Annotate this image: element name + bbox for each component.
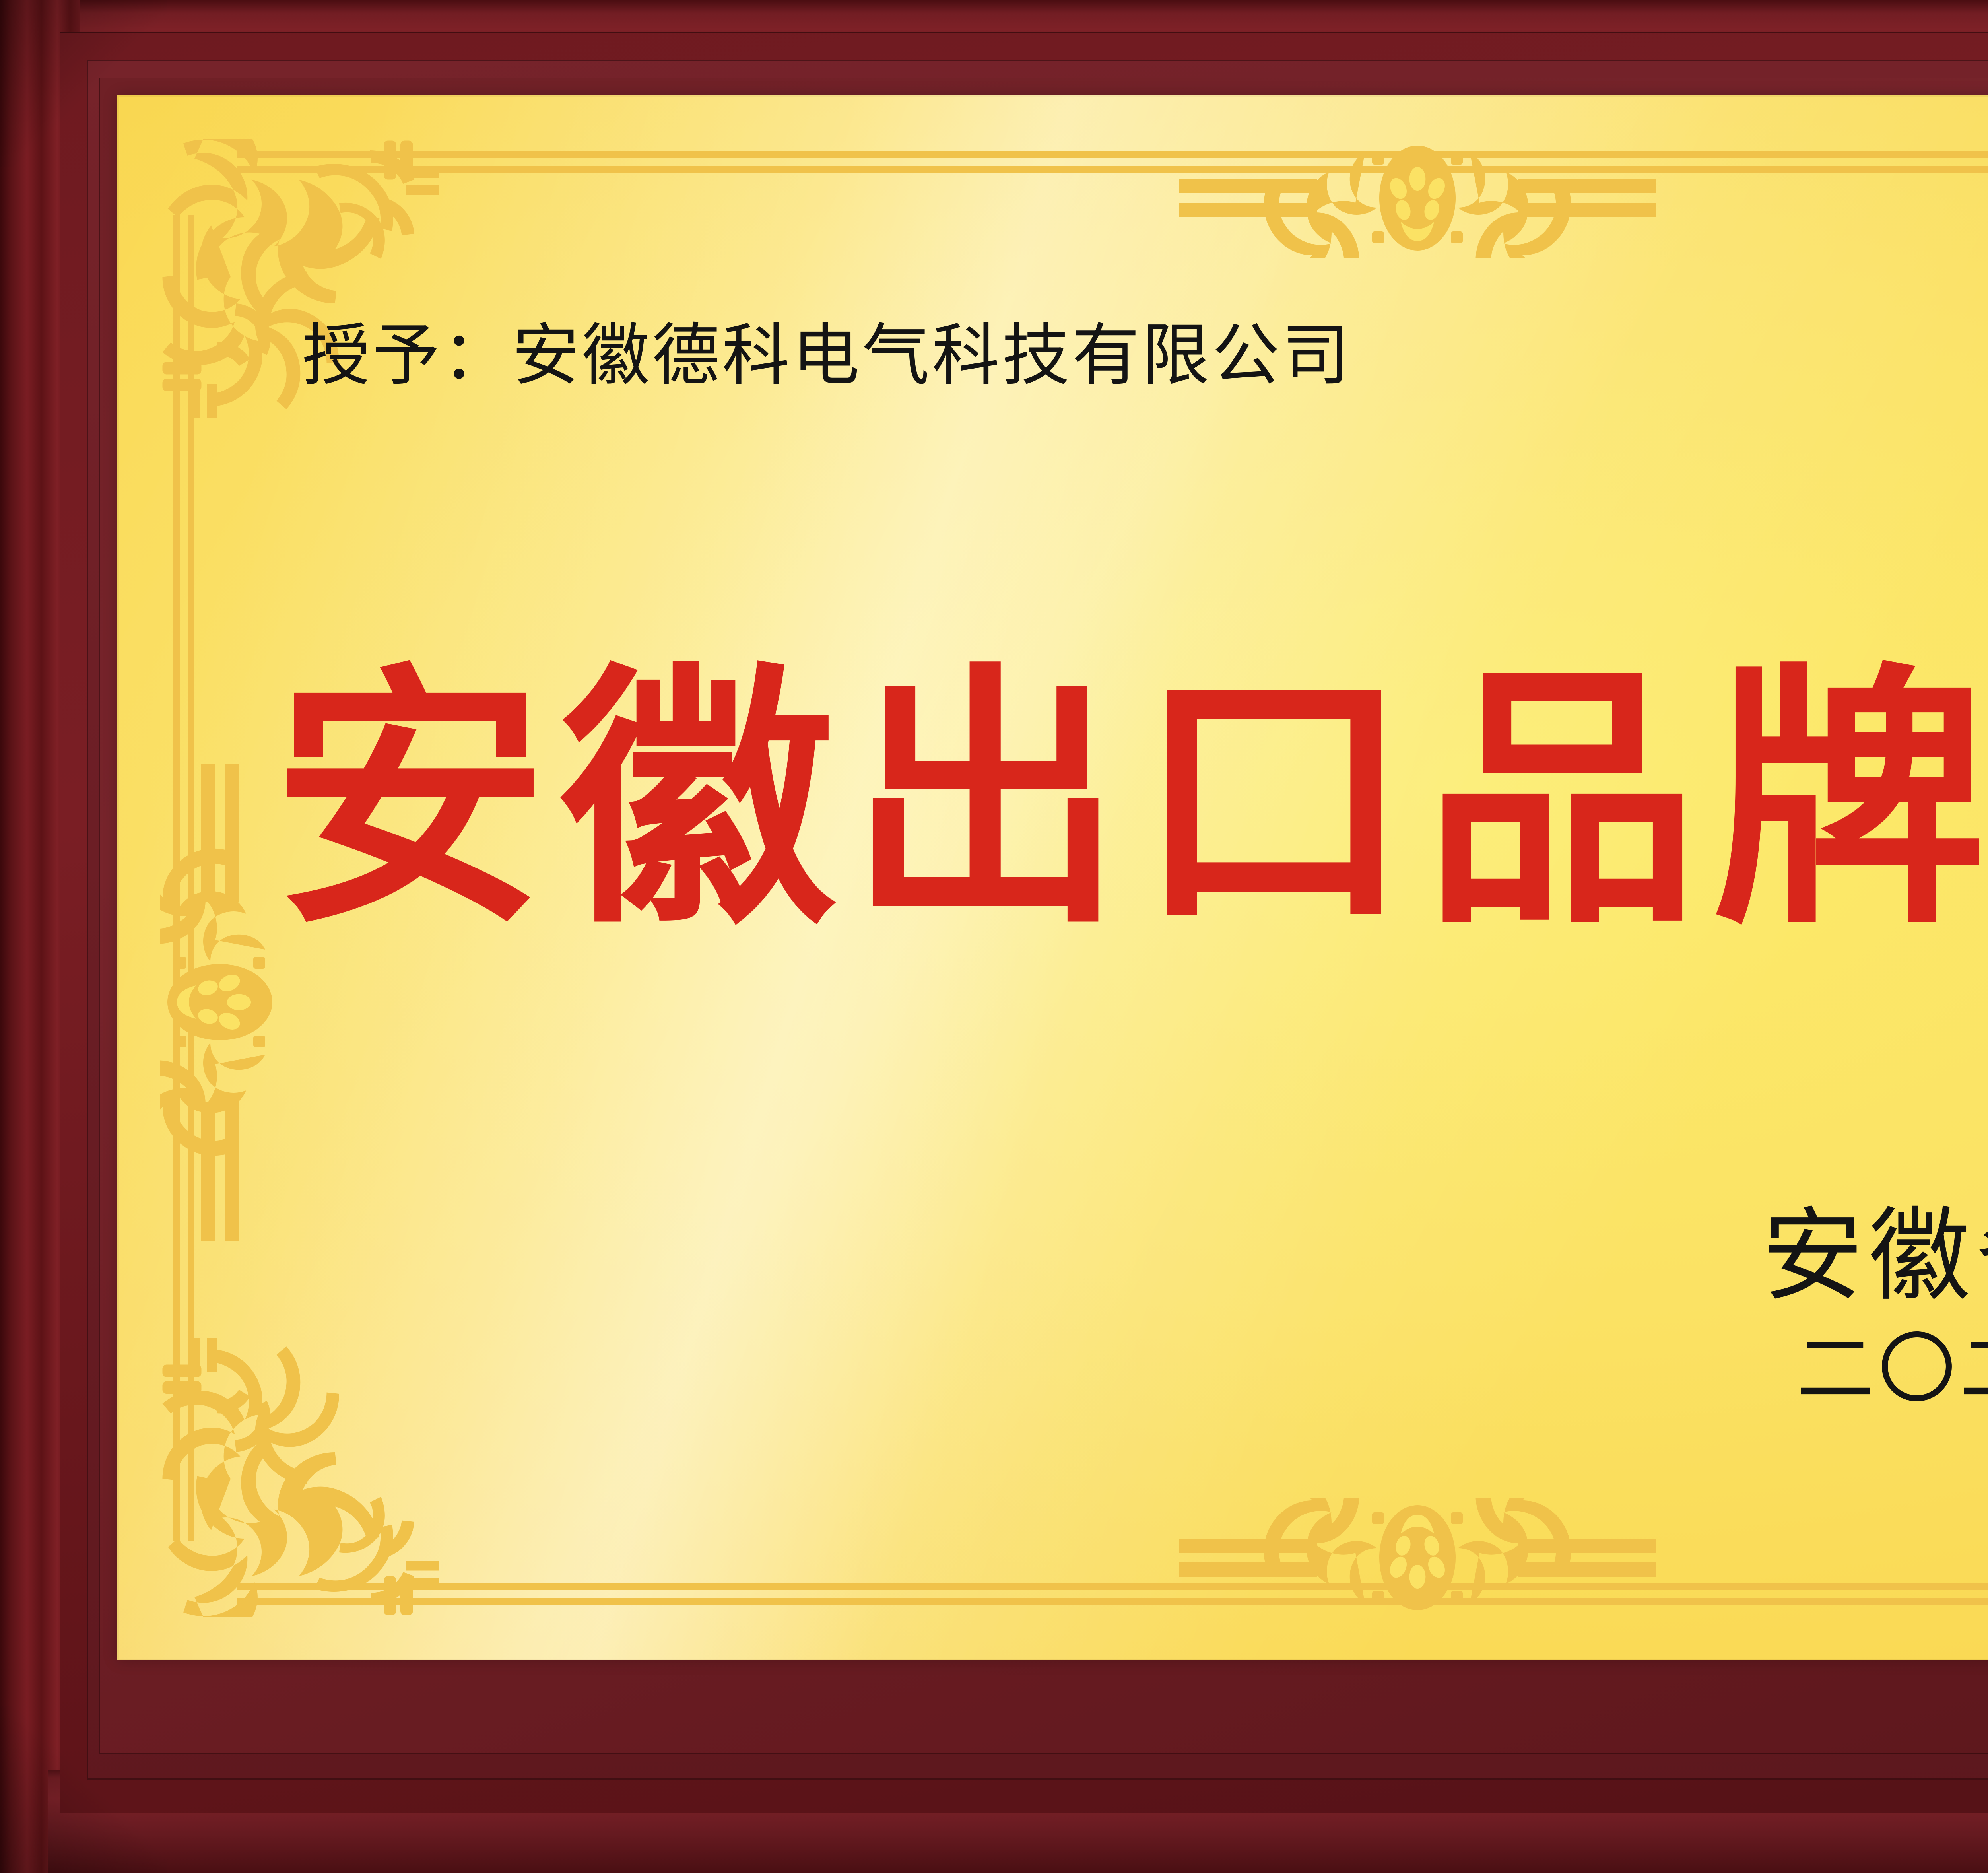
center-medallion-top [1179,138,1656,258]
corner-flourish-bottom-left [161,1338,439,1617]
plaque-title: 安徽出口品牌企业 [117,664,1988,938]
issuer-name: 安徽省商务厅 [1756,1199,1988,1313]
signature-block: 安徽省商务厅 二〇二二年二月 [1756,1199,1988,1416]
border-rail-top [237,151,1988,173]
gold-plaque-panel: 授予：安徽德科电气科技有限公司 安徽出口品牌企业 安徽省商务厅 二〇二二年二月 [117,95,1988,1660]
awardee-line: 授予：安徽德科电气科技有限公司 [302,320,1352,391]
issue-date: 二〇二二年二月 [1756,1323,1988,1416]
center-medallion-bottom [1179,1498,1656,1617]
plaque-stage: 授予：安徽德科电气科技有限公司 安徽出口品牌企业 安徽省商务厅 二〇二二年二月 [0,0,1988,1873]
border-rail-bottom [237,1583,1988,1605]
